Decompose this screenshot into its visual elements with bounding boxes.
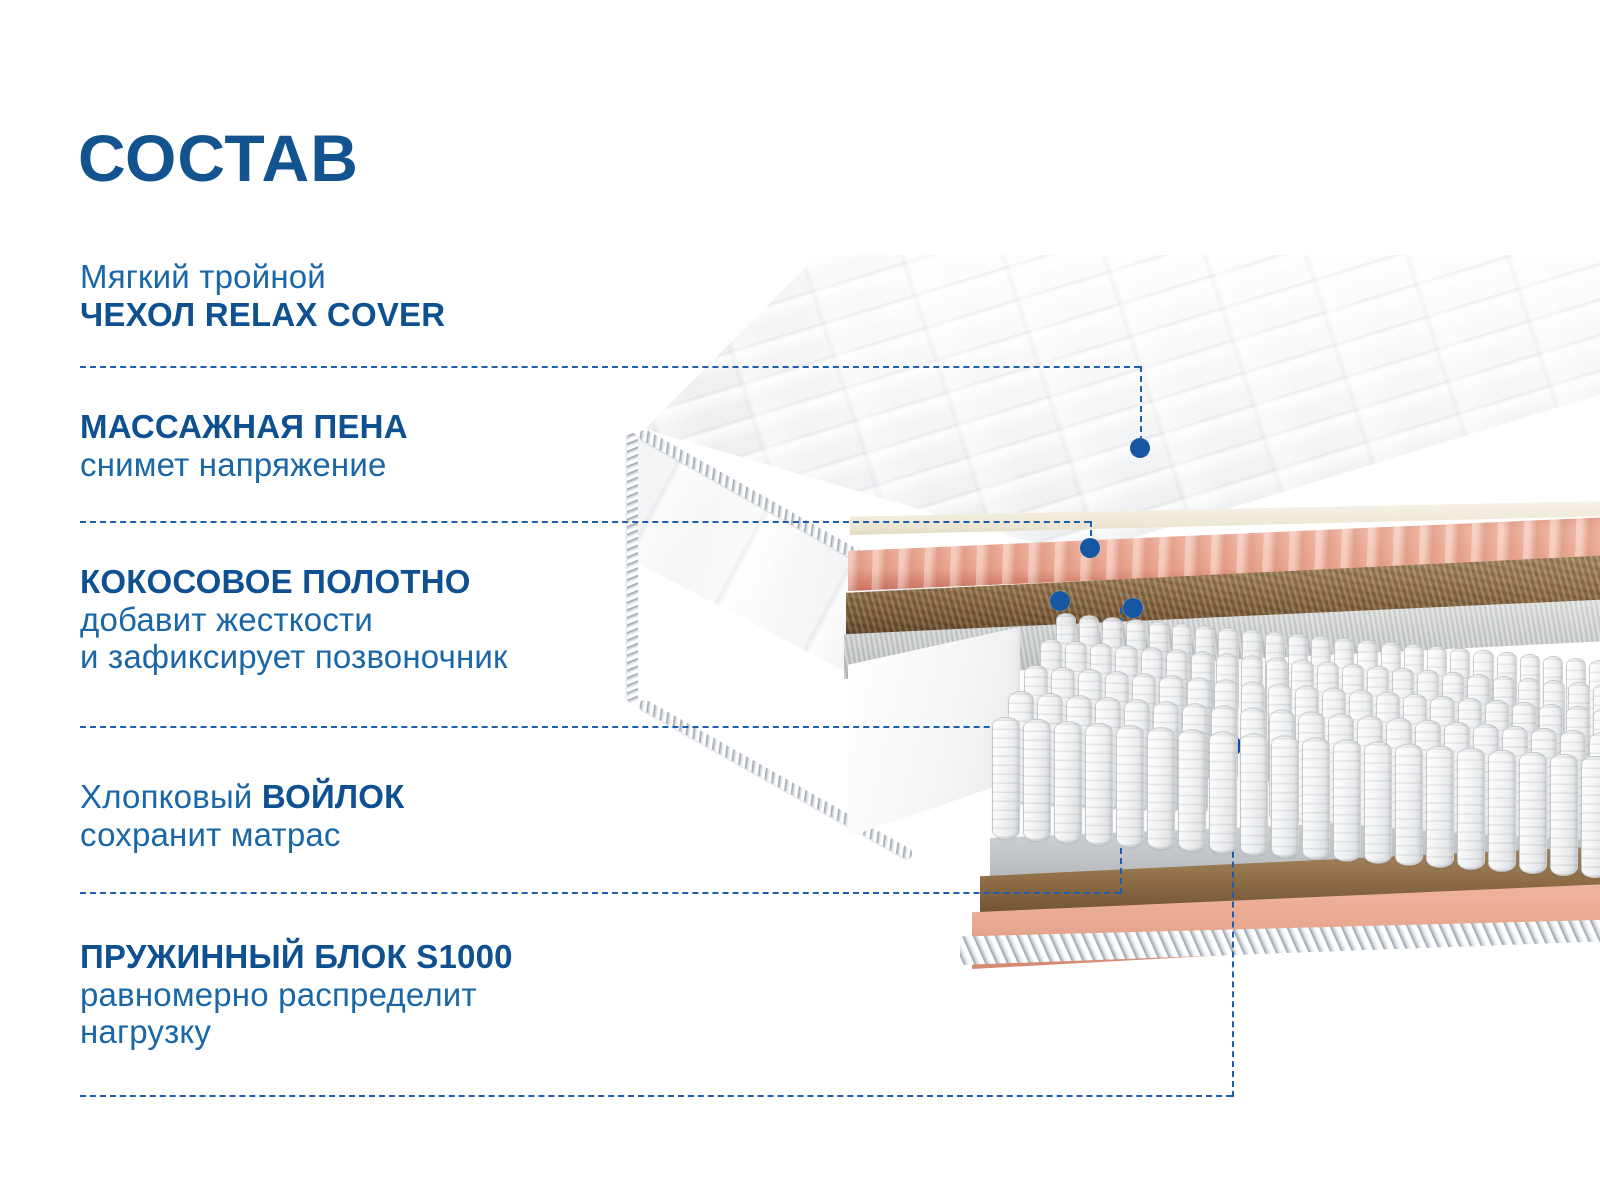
- label-spring-line3: нагрузку: [80, 1013, 513, 1051]
- spring-coil: [1302, 738, 1330, 860]
- label-block-spring: ПРУЖИННЫЙ БЛОК S1000 равномерно распреде…: [80, 938, 513, 1051]
- foam-dot[interactable]: [1080, 538, 1100, 558]
- spring-coil: [1581, 756, 1600, 878]
- spring-coil: [1550, 754, 1578, 876]
- label-foam-line1: МАССАЖНАЯ ПЕНА: [80, 408, 408, 446]
- label-felt-line1-bold: ВОЙЛОК: [262, 778, 405, 815]
- label-coir-line2: добавит жесткости: [80, 601, 508, 639]
- brand-label: DIMAX: [707, 636, 770, 708]
- label-foam-line2: снимет напряжение: [80, 446, 408, 484]
- page-title: СОСТАВ: [78, 125, 359, 191]
- cord-trim-left-vertical: [627, 433, 638, 703]
- label-coir-line1: КОКОСОВОЕ ПОЛОТНО: [80, 563, 508, 601]
- spring-coil: [1395, 744, 1423, 866]
- label-block-cover: Мягкий тройной ЧЕХОЛ RELAX COVER: [80, 258, 445, 333]
- spring-coil: [1457, 748, 1485, 870]
- label-felt-line1-pre: Хлопковый: [80, 778, 262, 815]
- brand-label-text: DIMAX: [713, 653, 764, 690]
- label-block-cotton-felt: Хлопковый ВОЙЛОК сохранит матрас: [80, 778, 404, 853]
- spring-row: [992, 717, 1600, 839]
- spring-coil: [1085, 723, 1113, 845]
- label-felt-line1: Хлопковый ВОЙЛОК: [80, 778, 404, 816]
- spring-coil: [1054, 721, 1082, 843]
- label-cover-line2: ЧЕХОЛ RELAX COVER: [80, 296, 445, 334]
- spring-coil: [1333, 740, 1361, 862]
- label-spring-line2: равномерно распределит: [80, 976, 513, 1014]
- leader-line-spring-h: [80, 1095, 1232, 1097]
- spring-coil: [1240, 733, 1268, 855]
- leader-line-felt-h: [80, 892, 1120, 894]
- cover-dot[interactable]: [1130, 438, 1150, 458]
- spring-coil: [1209, 731, 1237, 853]
- label-block-massage-foam: МАССАЖНАЯ ПЕНА снимет напряжение: [80, 408, 408, 483]
- spring-coil: [1023, 719, 1051, 841]
- label-cover-line1: Мягкий тройной: [80, 258, 445, 296]
- pocket-spring-block: [992, 607, 1600, 857]
- coir-dot[interactable]: [1050, 591, 1070, 611]
- label-felt-line2: сохранит матрас: [80, 816, 404, 854]
- spring-coil: [1147, 727, 1175, 849]
- mattress-cutaway-illustration: DIMAX: [560, 255, 1600, 955]
- infographic-canvas: СОСТАВ DIMAX: [0, 0, 1600, 1200]
- spring-coil: [1364, 742, 1392, 864]
- leader-line-foam-h: [80, 521, 1090, 523]
- label-coir-line3: и зафиксирует позвоночник: [80, 638, 508, 676]
- leader-line-coir-h: [80, 726, 1060, 728]
- spring-coil: [1488, 750, 1516, 872]
- leader-line-cover-h: [80, 366, 1140, 368]
- spring-coil: [1519, 752, 1547, 874]
- spring-coil: [1271, 735, 1299, 857]
- spring-coil: [1178, 729, 1206, 851]
- label-spring-line1: ПРУЖИННЫЙ БЛОК S1000: [80, 938, 513, 976]
- spring-coil: [1116, 725, 1144, 847]
- spring-coil: [992, 717, 1020, 839]
- spring-coil: [1426, 746, 1454, 868]
- label-block-coconut-coir: КОКОСОВОЕ ПОЛОТНО добавит жесткости и за…: [80, 563, 508, 676]
